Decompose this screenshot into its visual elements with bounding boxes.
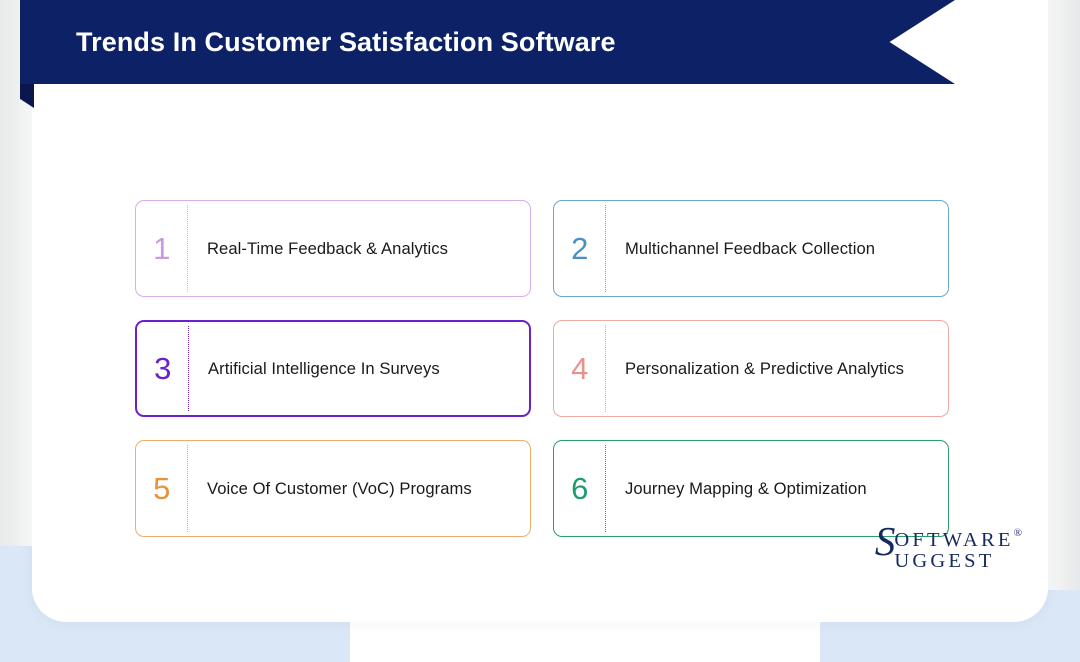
trend-label-column-4: Personalization & Predictive Analytics — [606, 321, 948, 416]
trend-label-5: Voice Of Customer (VoC) Programs — [207, 474, 472, 504]
registered-trademark-icon: ® — [1014, 527, 1022, 539]
trend-label-1: Real-Time Feedback & Analytics — [207, 234, 448, 264]
trend-number-4: 4 — [571, 353, 589, 384]
page-title: Trends In Customer Satisfaction Software — [76, 27, 616, 58]
trend-number-1: 1 — [153, 233, 171, 264]
dotted-divider-1 — [187, 205, 188, 292]
trend-label-column-2: Multichannel Feedback Collection — [606, 201, 948, 296]
trends-grid: 1 Real-Time Feedback & Analytics 2 Multi… — [135, 200, 949, 537]
trend-card-1[interactable]: 1 Real-Time Feedback & Analytics — [135, 200, 531, 297]
dotted-divider-4 — [605, 325, 606, 412]
logo-text-suggest: uggest — [894, 550, 994, 572]
trend-label-column-5: Voice Of Customer (VoC) Programs — [188, 441, 530, 536]
trend-label-column-1: Real-Time Feedback & Analytics — [188, 201, 530, 296]
softwaresuggest-logo: Software® Suggest — [875, 523, 1022, 582]
trend-number-column-6: 6 — [554, 441, 606, 536]
dotted-divider-2 — [605, 205, 606, 292]
trend-card-3[interactable]: 3 Artificial Intelligence In Surveys — [135, 320, 531, 417]
infographic-page: Trends In Customer Satisfaction Software… — [0, 0, 1080, 662]
trend-card-4[interactable]: 4 Personalization & Predictive Analytics — [553, 320, 949, 417]
trend-number-6: 6 — [571, 473, 589, 504]
trend-label-2: Multichannel Feedback Collection — [625, 234, 875, 264]
trend-number-5: 5 — [153, 473, 171, 504]
trend-label-3: Artificial Intelligence In Surveys — [208, 354, 440, 384]
trend-label-6: Journey Mapping & Optimization — [625, 474, 867, 504]
trend-number-column-2: 2 — [554, 201, 606, 296]
trend-number-column-3: 3 — [137, 322, 189, 415]
trend-number-column-5: 5 — [136, 441, 188, 536]
ribbon-tail-shape — [20, 84, 34, 108]
logo-line-suggest: Suggest — [875, 544, 1022, 582]
ribbon-banner: Trends In Customer Satisfaction Software — [20, 0, 955, 84]
trend-card-2[interactable]: 2 Multichannel Feedback Collection — [553, 200, 949, 297]
trend-label-column-3: Artificial Intelligence In Surveys — [189, 322, 529, 415]
trend-card-5[interactable]: 5 Voice Of Customer (VoC) Programs — [135, 440, 531, 537]
trend-label-4: Personalization & Predictive Analytics — [625, 354, 904, 384]
dotted-divider-6 — [605, 445, 606, 532]
dotted-divider-5 — [187, 445, 188, 532]
content-card: Trends In Customer Satisfaction Software… — [32, 0, 1048, 622]
trend-number-2: 2 — [571, 233, 589, 264]
trend-number-column-4: 4 — [554, 321, 606, 416]
dotted-divider-3 — [188, 326, 189, 411]
trend-number-3: 3 — [154, 353, 172, 384]
trend-number-column-1: 1 — [136, 201, 188, 296]
header-ribbon: Trends In Customer Satisfaction Software — [20, 0, 960, 104]
